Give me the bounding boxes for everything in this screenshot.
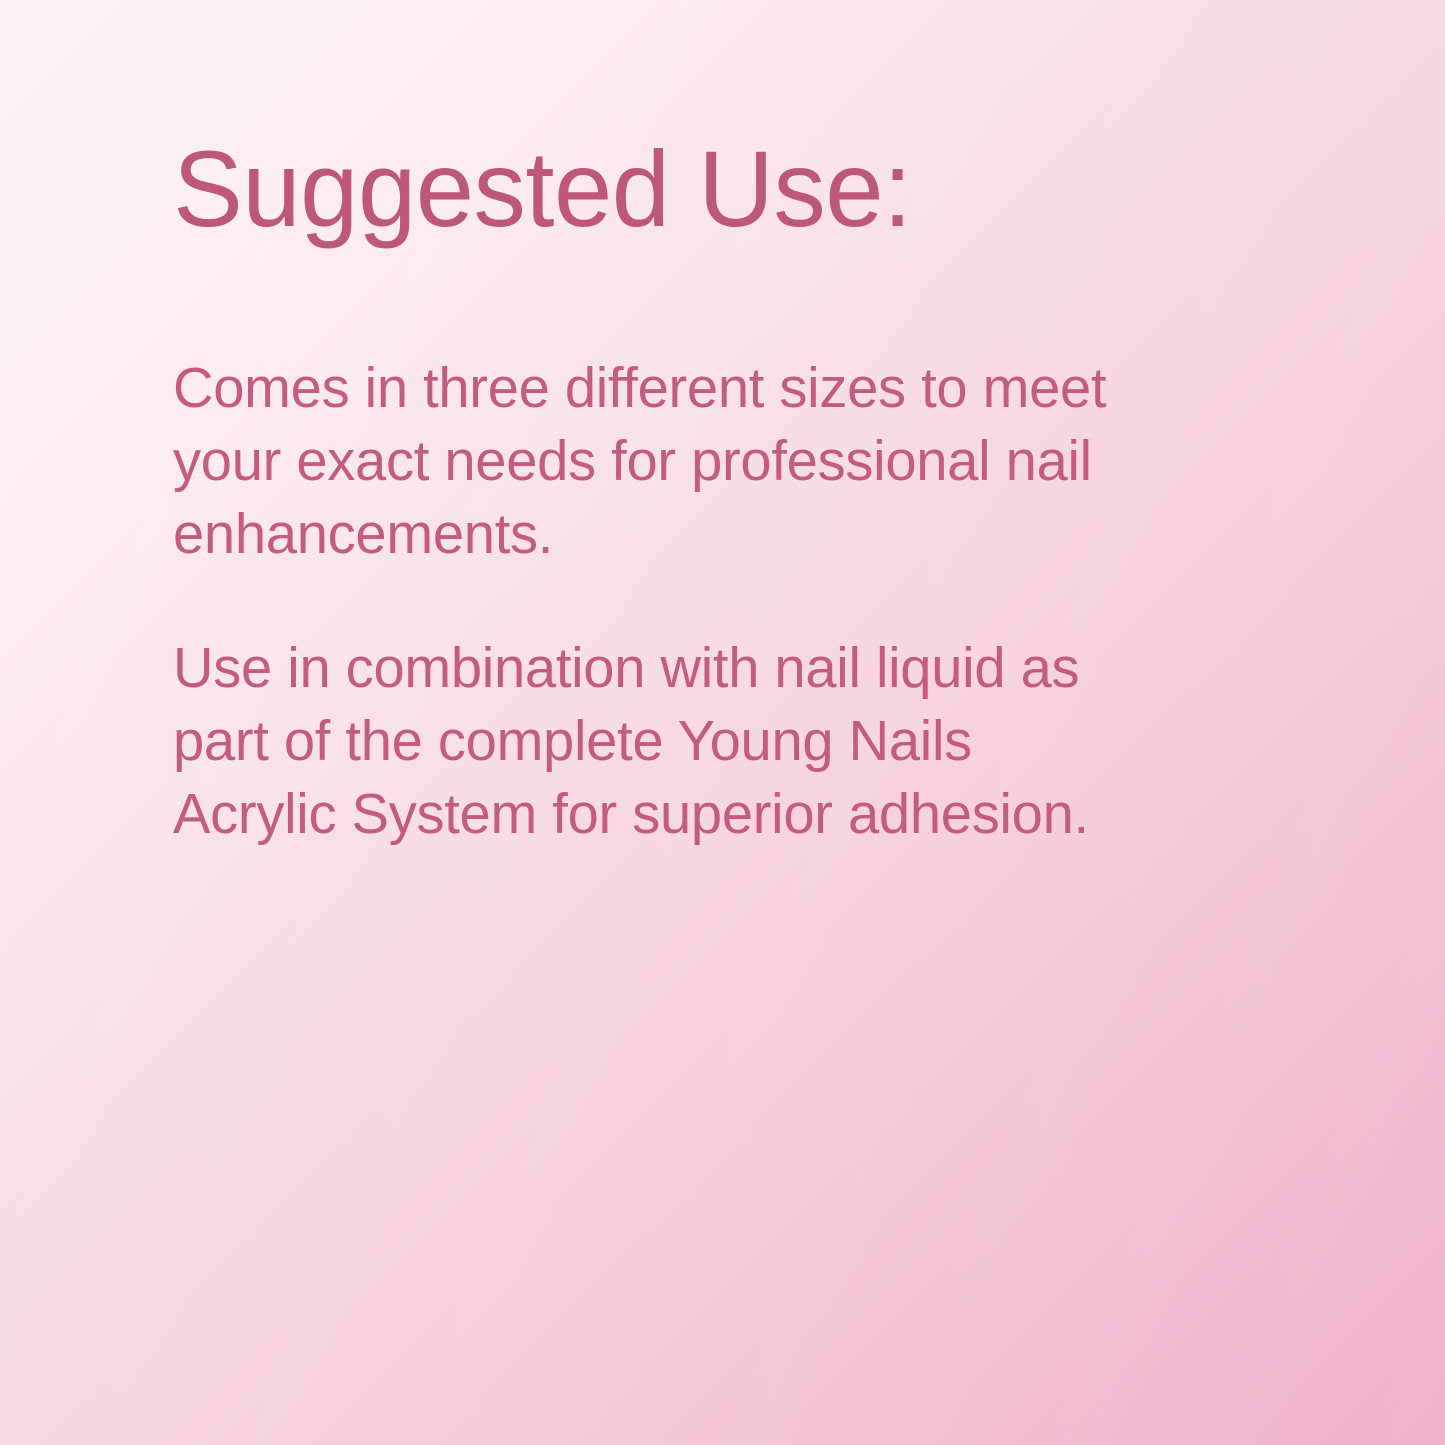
suggested-use-paragraph-2: Use in combination with nail liquid as p… [173, 632, 1217, 851]
suggested-use-paragraph-1: Comes in three different sizes to meet y… [173, 352, 1217, 571]
page-title: Suggested Use: [173, 135, 912, 243]
paragraph-line: Comes in three different sizes to meet [173, 352, 1217, 425]
paragraph-line: your exact needs for professional nail [173, 425, 1217, 498]
paragraph-line: Acrylic System for superior adhesion. [173, 778, 1217, 851]
paragraph-line: enhancements. [173, 498, 1217, 571]
product-info-panel: Suggested Use: Comes in three different … [0, 0, 1445, 1445]
paragraph-line: part of the complete Young Nails [173, 705, 1217, 778]
paragraph-line: Use in combination with nail liquid as [173, 632, 1217, 705]
